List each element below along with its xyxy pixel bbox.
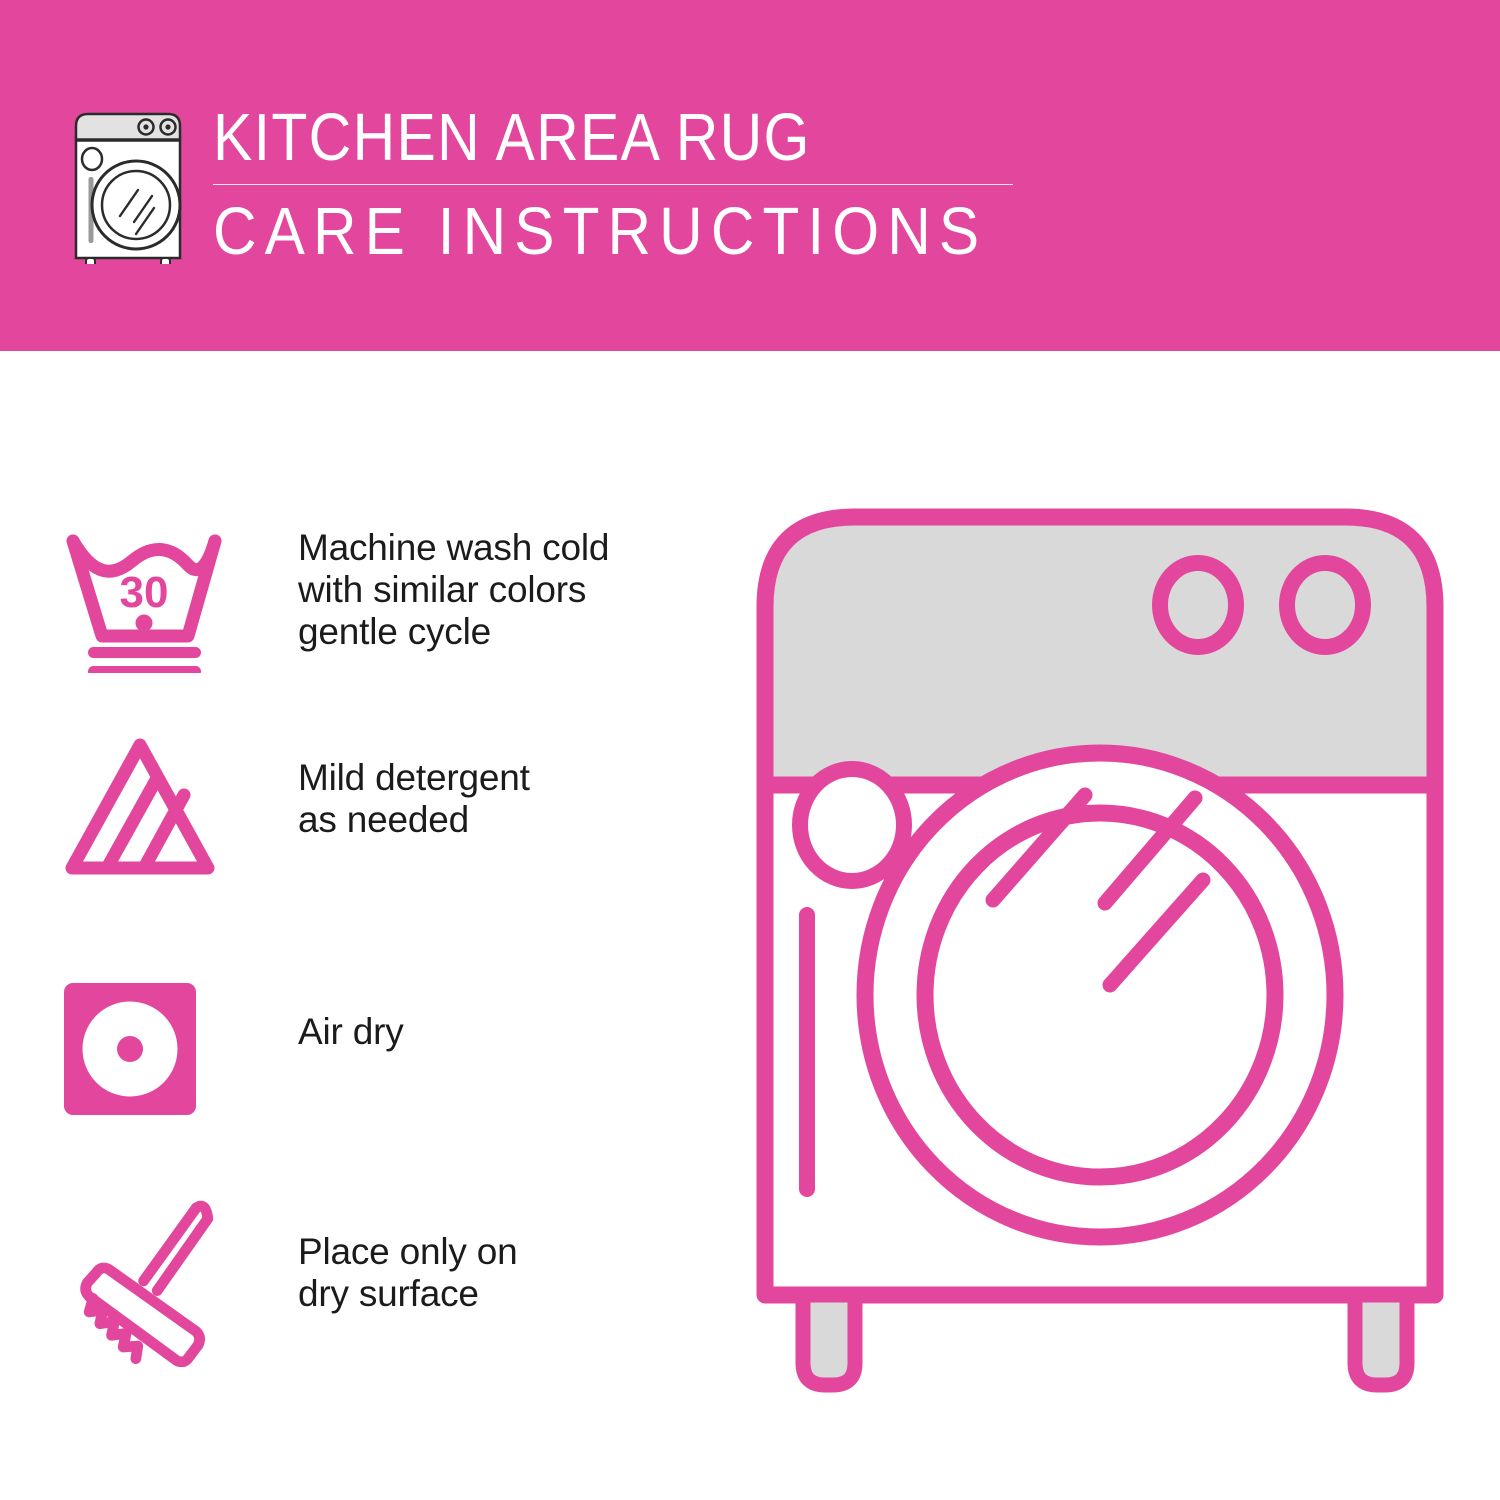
wash-tub-30-icon: 30	[60, 519, 235, 673]
page-header: KITCHEN AREA RUG CARE INSTRUCTIONS	[0, 0, 1500, 351]
title-divider	[213, 184, 1013, 185]
page-title: KITCHEN AREA RUG	[213, 100, 926, 176]
care-item-label: Mild detergent as needed	[298, 729, 530, 841]
washing-machine-icon	[62, 104, 202, 264]
care-item-air-dry: Air dry	[0, 973, 640, 1119]
care-item-label: Machine wash cold with similar colors ge…	[298, 519, 609, 653]
tumble-dry-square-icon	[60, 973, 235, 1119]
care-item-label: Place only on dry surface	[298, 1181, 518, 1315]
care-item-machine-wash: 30 Machine wash cold with similar colors…	[0, 519, 640, 673]
care-item-mild-detergent: Mild detergent as needed	[0, 729, 640, 880]
page-subtitle: CARE INSTRUCTIONS	[213, 195, 942, 269]
care-item-label: Air dry	[298, 973, 404, 1053]
care-instruction-list: 30 Machine wash cold with similar colors…	[0, 351, 700, 1500]
broom-icon	[60, 1181, 235, 1367]
triangle-bleach-icon	[60, 729, 235, 880]
care-item-dry-surface: Place only on dry surface	[0, 1181, 640, 1367]
header-text-block: KITCHEN AREA RUG CARE INSTRUCTIONS	[213, 100, 1023, 269]
washing-machine-illustration	[735, 495, 1465, 1425]
wash-temperature-label: 30	[120, 568, 169, 617]
